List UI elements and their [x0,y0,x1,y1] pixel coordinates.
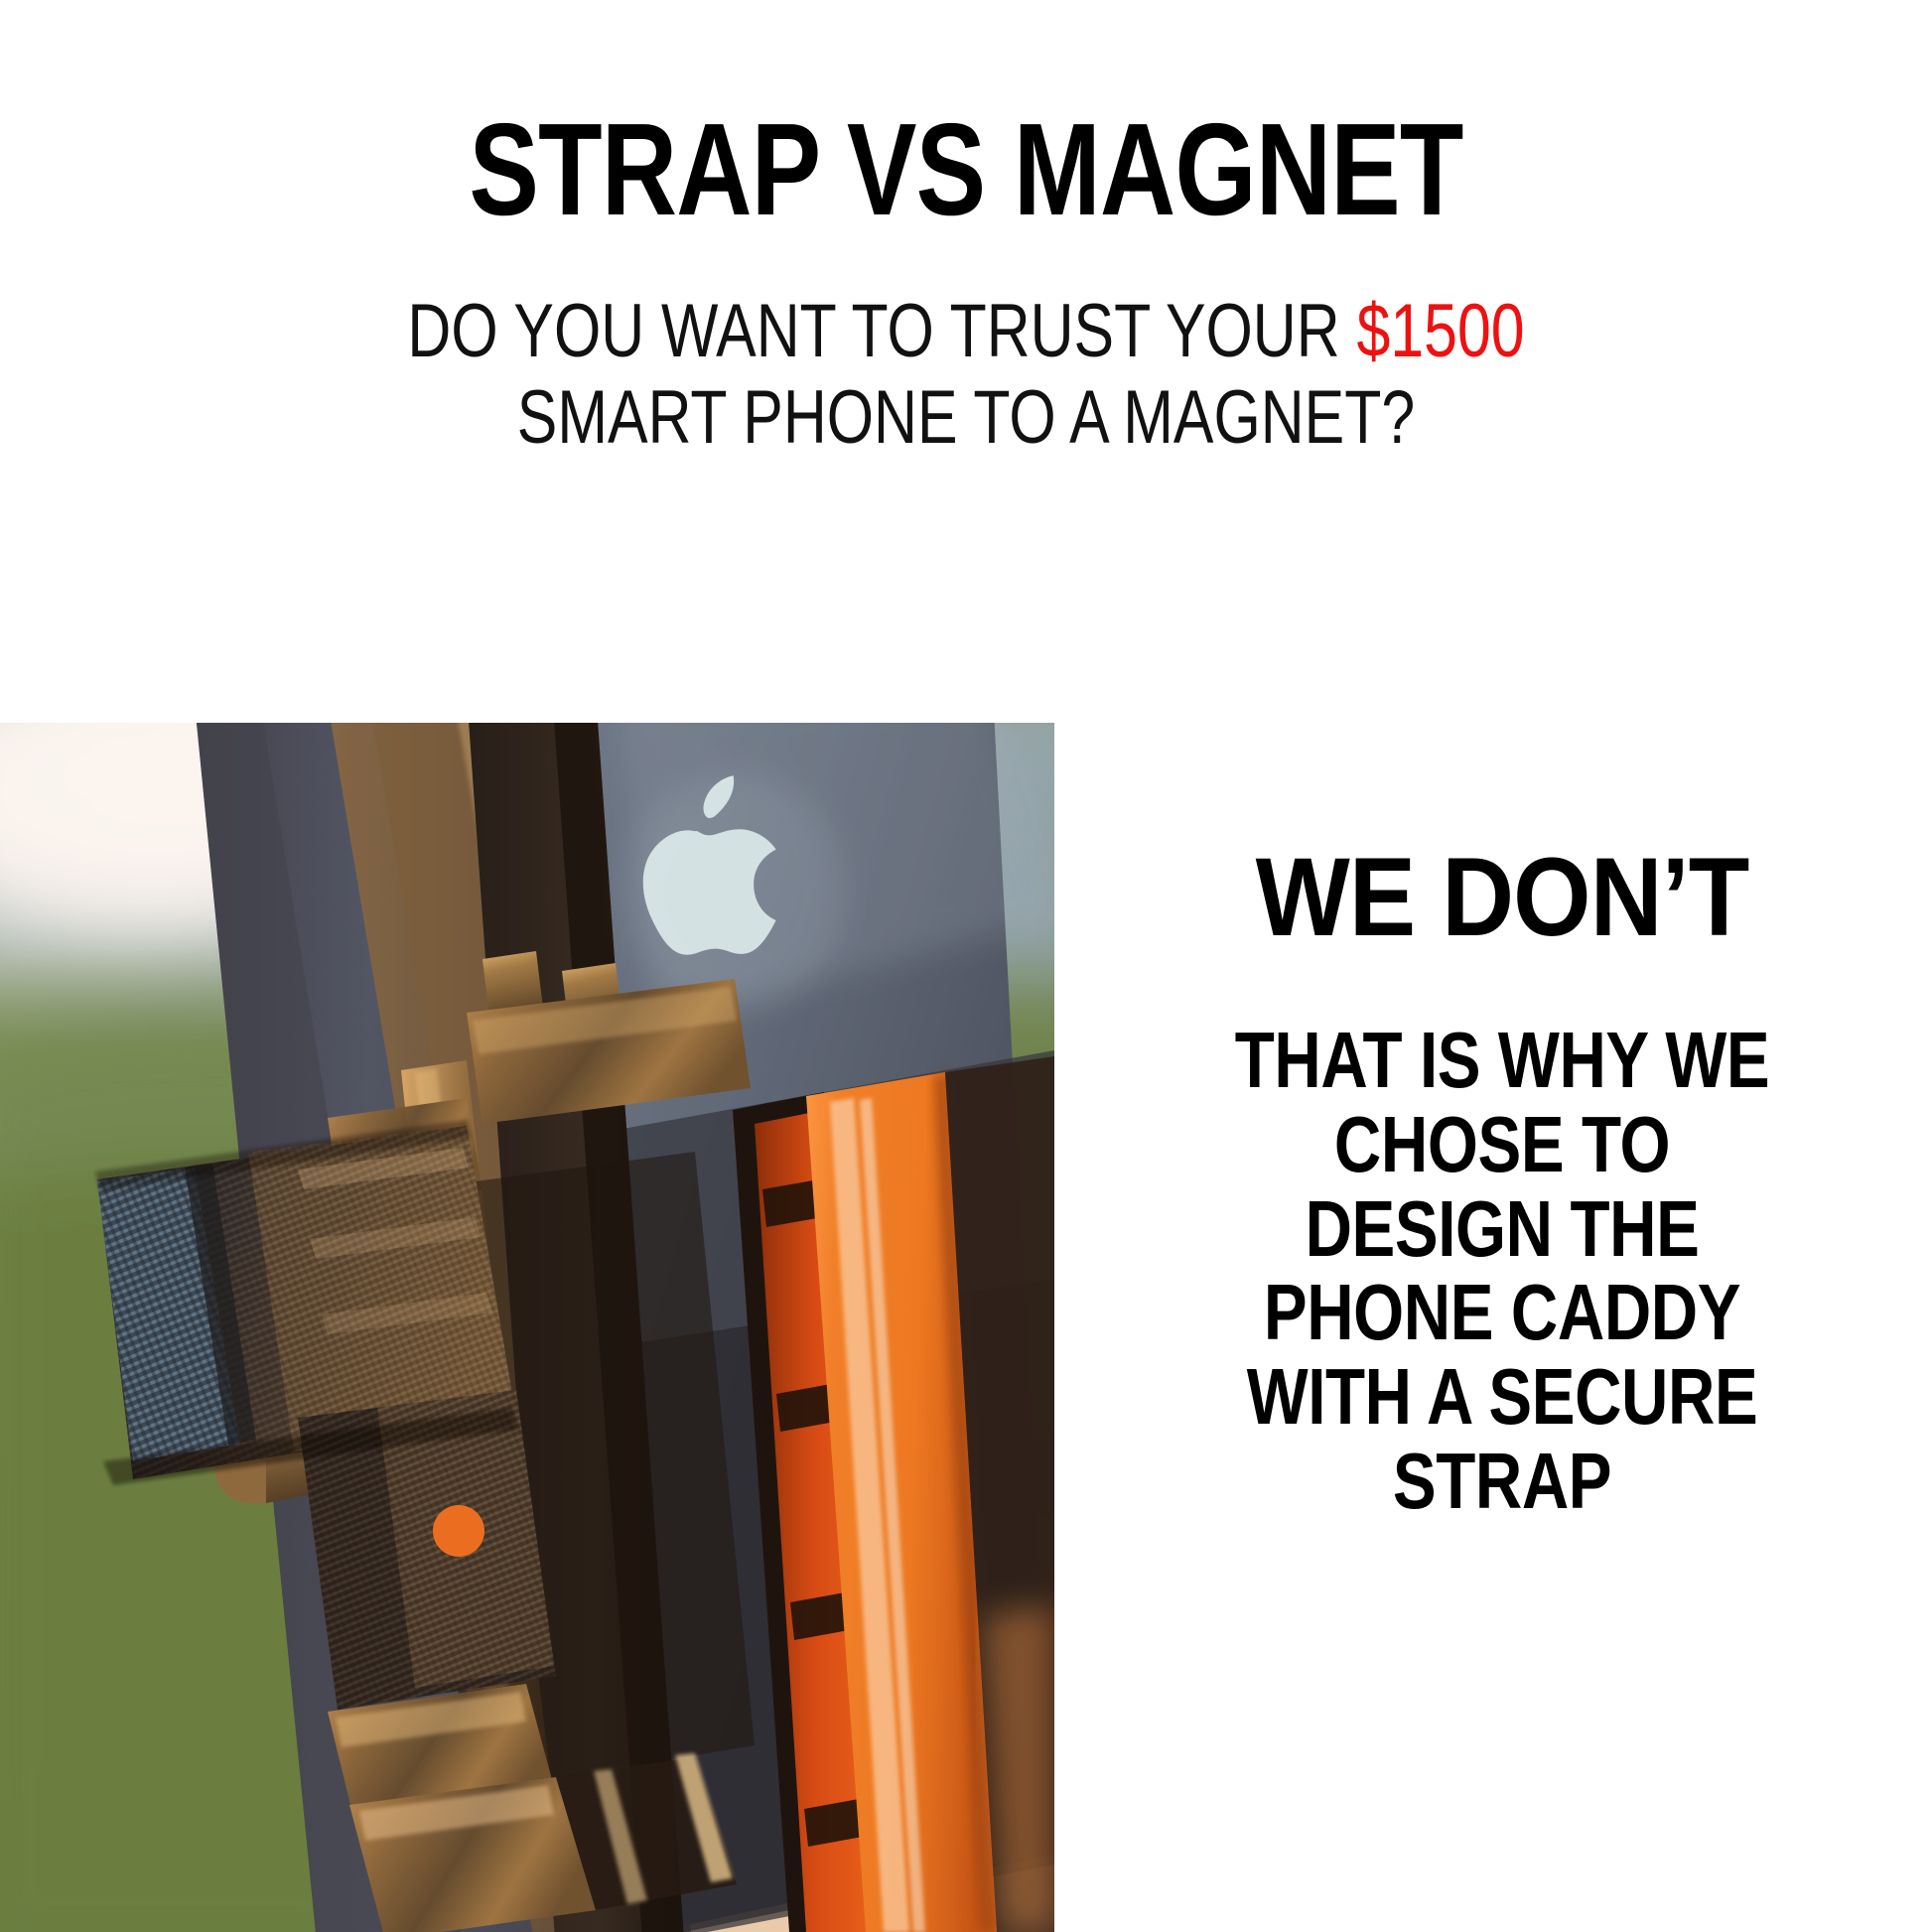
annotation-marker-dot[interactable] [433,1505,484,1557]
body-line-3: DESIGN THE [1150,1187,1855,1272]
page-title: STRAP VS MAGNET [194,103,1739,237]
body-line-1: THAT IS WHY WE [1150,1019,1855,1103]
price-highlight: $1500 [1357,289,1525,373]
poster-canvas: STRAP VS MAGNET DO YOU WANT TO TRUST YOU… [0,0,1932,1932]
body-line-4: PHONE CADDY [1150,1271,1855,1355]
body-line-6: STRAP [1150,1440,1855,1524]
subtitle-line1-prefix: DO YOU WANT TO TRUST YOUR [407,289,1356,373]
right-copy-column: WE DON’T THAT IS WHY WE CHOSE TO DESIGN … [1072,842,1932,1524]
we-dont-heading: WE DON’T [1115,842,1888,953]
product-photo-artwork [0,723,1054,1932]
body-copy: THAT IS WHY WE CHOSE TO DESIGN THE PHONE… [1150,1019,1855,1524]
subtitle-line2: SMART PHONE TO A MAGNET? [194,374,1739,461]
subtitle: DO YOU WANT TO TRUST YOUR $1500 SMART PH… [194,288,1739,462]
body-line-2: CHOSE TO [1150,1103,1855,1187]
product-photo [0,723,1054,1932]
body-line-5: WITH A SECURE [1150,1355,1855,1440]
